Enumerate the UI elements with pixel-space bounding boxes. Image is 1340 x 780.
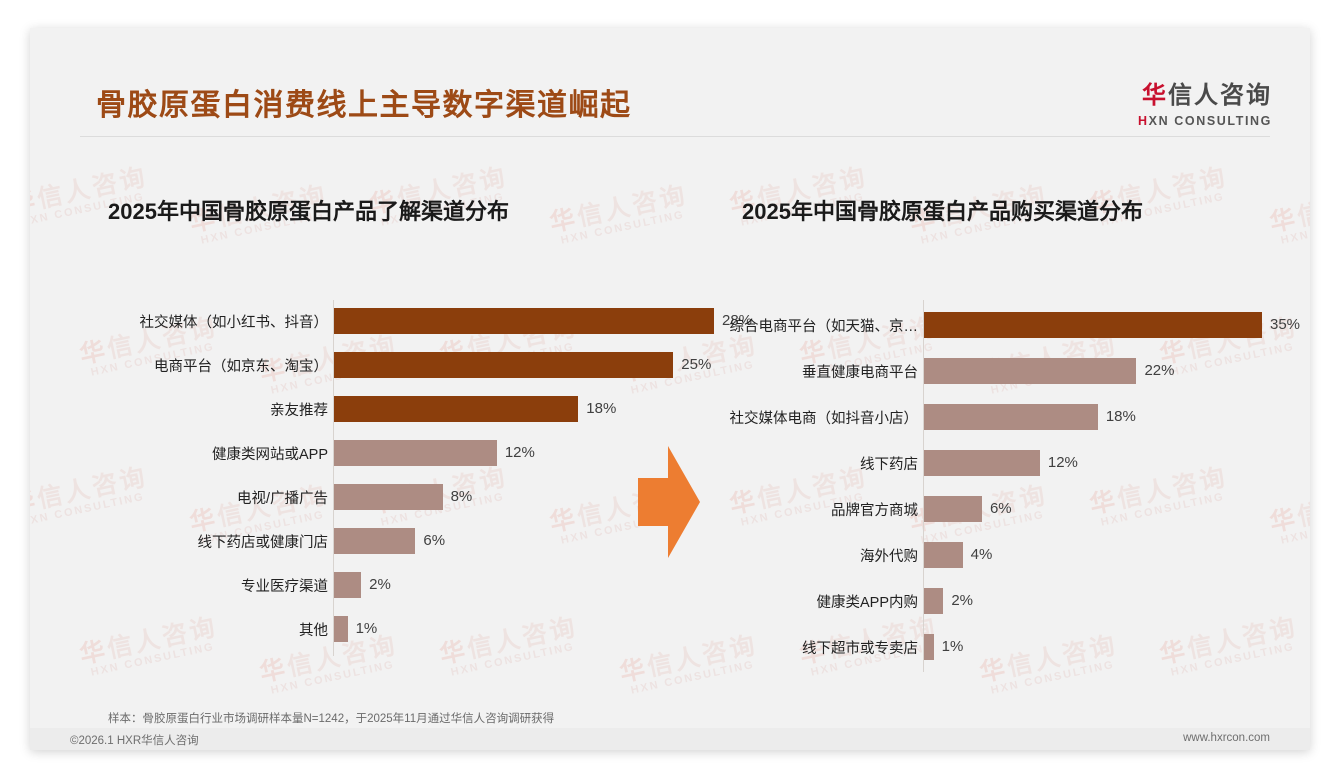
bar-rect[interactable] xyxy=(924,450,1040,476)
bar-chart-row: 专业医疗渠道2% xyxy=(70,572,680,598)
bar-rect[interactable] xyxy=(924,542,963,568)
bar-chart-row: 线下超市或专卖店1% xyxy=(720,634,1310,660)
bar-category-label: 线下药店或健康门店 xyxy=(70,531,328,552)
bar-value-label: 8% xyxy=(451,488,473,505)
bar-value-label: 35% xyxy=(1270,316,1300,333)
bar-category-label: 线下药店 xyxy=(720,453,918,474)
footer-copyright: ©2026.1 HXR华信人咨询 xyxy=(70,732,199,748)
bar-value-label: 1% xyxy=(356,620,378,637)
bar-value-label: 2% xyxy=(951,592,973,609)
bar-value-label: 2% xyxy=(369,576,391,593)
bar-chart-row: 健康类网站或APP12% xyxy=(70,440,680,466)
slide-canvas: 华信人咨询HXN CONSULTING华信人咨询HXN CONSULTING华信… xyxy=(30,28,1310,750)
bar-chart-row: 亲友推荐18% xyxy=(70,396,680,422)
bar-category-label: 健康类APP内购 xyxy=(720,591,918,612)
bar-value-label: 22% xyxy=(1144,362,1174,379)
bar-category-label: 亲友推荐 xyxy=(70,399,328,420)
bar-chart-row: 线下药店或健康门店6% xyxy=(70,528,680,554)
bar-chart-row: 健康类APP内购2% xyxy=(720,588,1310,614)
bar-category-label: 社交媒体电商（如抖音小店） xyxy=(720,407,918,428)
bar-chart-row: 社交媒体电商（如抖音小店）18% xyxy=(720,404,1310,430)
bar-rect[interactable] xyxy=(334,616,348,642)
bar-category-label: 海外代购 xyxy=(720,545,918,566)
page-title: 骨胶原蛋白消费线上主导数字渠道崛起 xyxy=(96,80,632,124)
logo-chinese-text: 华信人咨询 xyxy=(1138,84,1272,108)
bar-rect[interactable] xyxy=(334,396,578,422)
bar-chart-row: 线下药店12% xyxy=(720,450,1310,476)
logo-en-rest: XN CONSULTING xyxy=(1149,114,1272,128)
bar-chart-awareness: 社交媒体（如小红书、抖音）28%电商平台（如京东、淘宝）25%亲友推荐18%健康… xyxy=(70,300,680,656)
bar-value-label: 18% xyxy=(586,400,616,417)
bar-chart-row: 品牌官方商城6% xyxy=(720,496,1310,522)
bar-category-label: 专业医疗渠道 xyxy=(70,575,328,596)
footer-website[interactable]: www.hxrcon.com xyxy=(1183,732,1270,744)
bar-rect[interactable] xyxy=(334,440,497,466)
watermark-text: 华信人咨询HXN CONSULTING xyxy=(1268,182,1310,249)
bar-chart-row: 综合电商平台（如天猫、京…35% xyxy=(720,312,1310,338)
bar-value-label: 12% xyxy=(505,444,535,461)
title-divider xyxy=(80,136,1270,137)
chart-title-purchase: 2025年中国骨胶原蛋白产品购买渠道分布 xyxy=(742,194,1143,226)
slide-header: 骨胶原蛋白消费线上主导数字渠道崛起 华信人咨询 HXN CONSULTING xyxy=(30,28,1310,138)
bar-rect[interactable] xyxy=(334,352,673,378)
bar-category-label: 健康类网站或APP xyxy=(70,443,328,464)
slide-footer: ©2026.1 HXR华信人咨询 www.hxrcon.com xyxy=(30,728,1310,750)
bar-category-label: 其他 xyxy=(70,619,328,640)
logo-english-text: HXN CONSULTING xyxy=(1138,114,1272,128)
bar-value-label: 12% xyxy=(1048,454,1078,471)
bar-value-label: 25% xyxy=(681,356,711,373)
sample-footnote: 样本：骨胶原蛋白行业市场调研样本量N=1242，于2025年11月通过华信人咨询… xyxy=(108,710,554,726)
bar-rect[interactable] xyxy=(334,528,415,554)
bar-chart-row: 电商平台（如京东、淘宝）25% xyxy=(70,352,680,378)
chart-title-awareness: 2025年中国骨胶原蛋白产品了解渠道分布 xyxy=(108,194,509,226)
bar-value-label: 1% xyxy=(942,638,964,655)
bar-chart-purchase: 综合电商平台（如天猫、京…35%垂直健康电商平台22%社交媒体电商（如抖音小店）… xyxy=(720,300,1310,672)
bar-value-label: 6% xyxy=(423,532,445,549)
bar-value-label: 6% xyxy=(990,500,1012,517)
bar-category-label: 综合电商平台（如天猫、京… xyxy=(720,315,918,336)
bar-category-label: 线下超市或专卖店 xyxy=(720,637,918,658)
company-logo: 华信人咨询 HXN CONSULTING xyxy=(1138,84,1272,128)
bar-value-label: 4% xyxy=(971,546,993,563)
bar-category-label: 品牌官方商城 xyxy=(720,499,918,520)
bar-chart-row: 电视/广播广告8% xyxy=(70,484,680,510)
bar-chart-row: 其他1% xyxy=(70,616,680,642)
flow-arrow-icon xyxy=(638,446,700,558)
bar-category-label: 垂直健康电商平台 xyxy=(720,361,918,382)
bar-category-label: 电视/广播广告 xyxy=(70,487,328,508)
bar-category-label: 社交媒体（如小红书、抖音） xyxy=(70,311,328,332)
bar-category-label: 电商平台（如京东、淘宝） xyxy=(70,355,328,376)
logo-cn-rest: 信人咨询 xyxy=(1168,82,1272,109)
bar-rect[interactable] xyxy=(924,588,943,614)
logo-hua-char: 华 xyxy=(1142,82,1168,109)
watermark-text: 华信人咨询HXN CONSULTING xyxy=(548,182,693,249)
bar-chart-row: 垂直健康电商平台22% xyxy=(720,358,1310,384)
bar-value-label: 18% xyxy=(1106,408,1136,425)
bar-rect[interactable] xyxy=(924,496,982,522)
logo-en-highlight: H xyxy=(1138,114,1149,128)
bar-chart-row: 海外代购4% xyxy=(720,542,1310,568)
bar-rect[interactable] xyxy=(924,404,1098,430)
bar-rect[interactable] xyxy=(924,358,1136,384)
bar-rect[interactable] xyxy=(924,634,934,660)
bar-rect[interactable] xyxy=(334,572,361,598)
chart-axis-line xyxy=(923,300,924,672)
bar-rect[interactable] xyxy=(334,308,714,334)
bar-rect[interactable] xyxy=(334,484,443,510)
bar-chart-row: 社交媒体（如小红书、抖音）28% xyxy=(70,308,680,334)
bar-rect[interactable] xyxy=(924,312,1262,338)
